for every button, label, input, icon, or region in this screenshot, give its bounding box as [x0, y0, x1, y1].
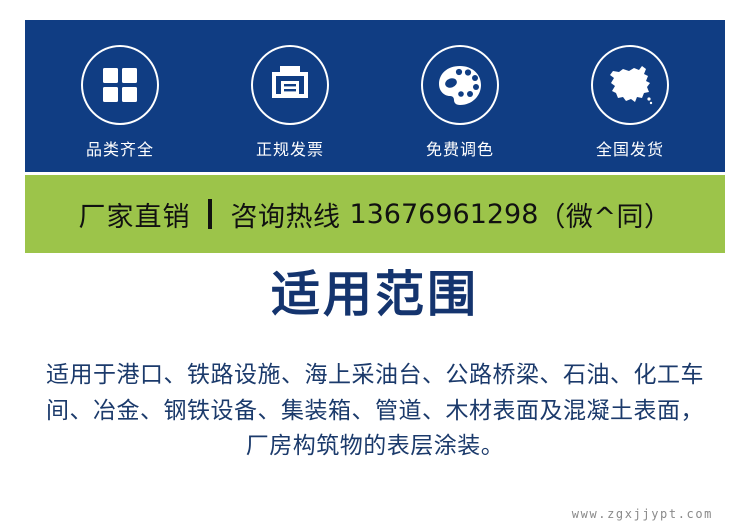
- hotline-phone-number[interactable]: 13676961298: [349, 199, 538, 230]
- feature-circle: [421, 45, 499, 125]
- feature-item-nationwide-shipping[interactable]: 全国发货: [550, 33, 710, 160]
- site-watermark: www.zgxjjypt.com: [572, 507, 713, 521]
- hotline-phone-suffix: （微^同）: [538, 195, 671, 234]
- feature-circle: [251, 45, 329, 125]
- hotline-band: 厂家直销 咨询热线 13676961298 （微^同）: [25, 175, 725, 253]
- feature-circle: [591, 45, 669, 125]
- feature-label: 品类齐全: [86, 136, 154, 160]
- hotline-brand: 厂家直销: [78, 195, 190, 234]
- feature-label: 全国发货: [596, 136, 664, 160]
- grid-squares-icon: [100, 65, 140, 105]
- hotline-label: 咨询热线: [230, 195, 340, 234]
- printer-invoice-icon: [269, 64, 311, 106]
- feature-row: 品类齐全 正规发票: [25, 20, 725, 172]
- feature-item-free-color-matching[interactable]: 免费调色: [380, 33, 540, 160]
- paint-palette-icon: [437, 64, 483, 106]
- feature-circle: [81, 45, 159, 125]
- feature-item-official-invoice[interactable]: 正规发票: [210, 33, 370, 160]
- scope-section: 适用范围 适用于港口、铁路设施、海上采油台、公路桥梁、石油、化工车间、冶金、钢铁…: [0, 268, 750, 465]
- feature-strip: 品类齐全 正规发票: [25, 20, 725, 172]
- feature-label: 免费调色: [426, 136, 494, 160]
- hotline-inner: 厂家直销 咨询热线 13676961298 （微^同）: [78, 195, 671, 234]
- feature-item-product-range[interactable]: 品类齐全: [40, 33, 200, 160]
- china-map-icon: [606, 64, 654, 106]
- feature-label: 正规发票: [256, 136, 324, 160]
- section-body-text: 适用于港口、铁路设施、海上采油台、公路桥梁、石油、化工车间、冶金、钢铁设备、集装…: [45, 358, 705, 465]
- section-title: 适用范围: [0, 268, 750, 322]
- hotline-divider: [208, 199, 212, 229]
